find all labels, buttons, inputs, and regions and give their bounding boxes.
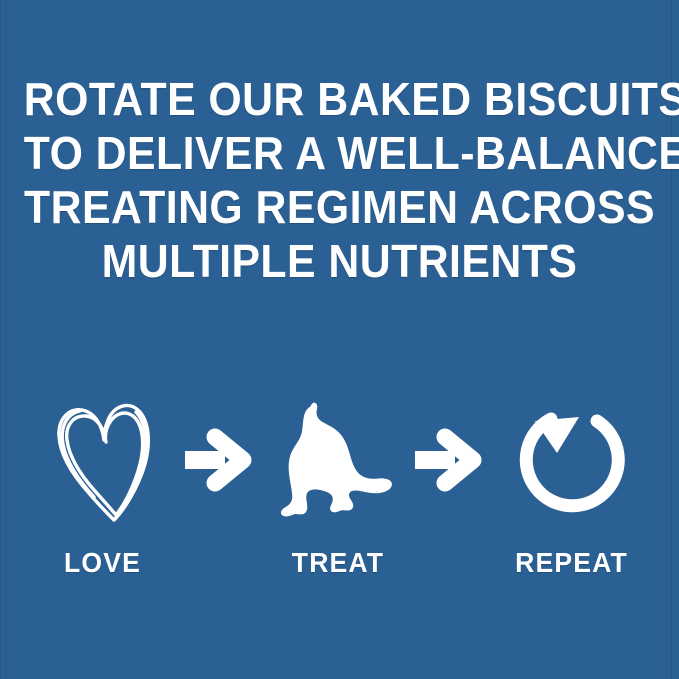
sitting-dog-icon <box>274 394 402 526</box>
arrow-2-cell <box>408 392 486 527</box>
circular-repeat-arrow-icon <box>513 401 631 519</box>
headline: ROTATE OUR BAKED BISCUITS TO DELIVER A W… <box>24 72 655 288</box>
headline-line-3: TREATING REGIMEN ACROSS <box>24 180 655 234</box>
process-icon-row <box>0 392 679 527</box>
arrow-1-cell <box>178 392 256 527</box>
arrow-right-icon <box>415 431 479 489</box>
headline-line-2: TO DELIVER A WELL-BALANCED <box>24 126 655 180</box>
headline-line-1: ROTATE OUR BAKED BISCUITS <box>24 72 655 126</box>
sketch-heart-icon <box>50 396 155 524</box>
treat-icon-cell <box>258 392 418 527</box>
step-label-repeat: REPEAT <box>498 546 645 580</box>
step-label-treat: TREAT <box>262 546 414 580</box>
repeat-icon-cell <box>494 392 649 527</box>
promo-banner: ROTATE OUR BAKED BISCUITS TO DELIVER A W… <box>0 0 679 679</box>
headline-line-4: MULTIPLE NUTRIENTS <box>24 234 655 288</box>
love-icon-cell <box>30 392 175 527</box>
arrow-right-icon <box>185 431 249 489</box>
step-label-love: LOVE <box>34 546 172 580</box>
step-label-row: LOVE TREAT REPEAT <box>0 546 679 586</box>
